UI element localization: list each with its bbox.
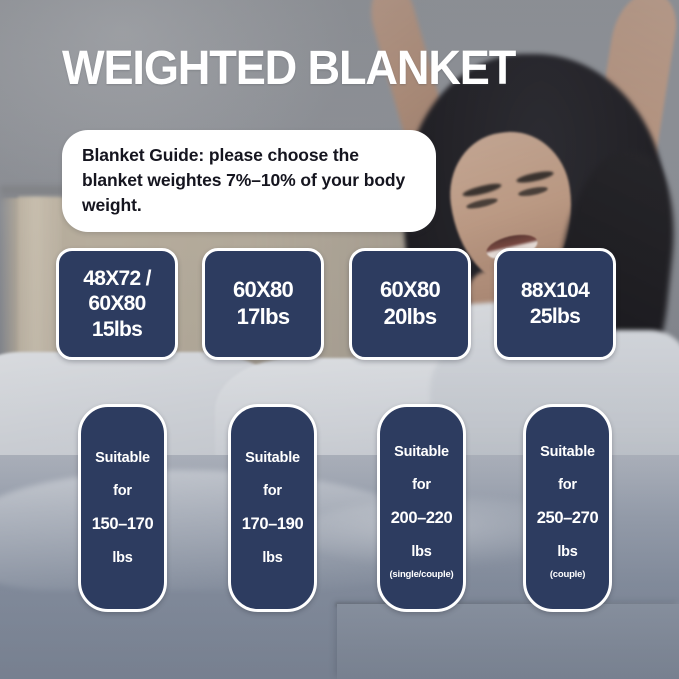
weighted-blanket-infographic: WEIGHTED BLANKET Blanket Guide: please c… bbox=[0, 0, 679, 679]
weight-unit: lbs bbox=[557, 545, 577, 560]
size-card-line: 88X104 bbox=[521, 278, 589, 304]
weight-unit: lbs bbox=[112, 551, 132, 566]
page-title: WEIGHTED BLANKET bbox=[62, 45, 515, 93]
weight-range: 250–270 bbox=[537, 510, 598, 527]
suitability-label: for bbox=[113, 484, 132, 499]
overlay-content: WEIGHTED BLANKET Blanket Guide: please c… bbox=[0, 0, 679, 679]
weight-unit: lbs bbox=[411, 545, 431, 560]
size-card-line: 60X80 bbox=[88, 291, 145, 317]
size-card-line: 60X80 bbox=[233, 277, 293, 304]
size-card-line: 25lbs bbox=[530, 304, 580, 330]
size-card-line: 60X80 bbox=[380, 277, 440, 304]
size-card-line: 15lbs bbox=[92, 317, 142, 343]
size-card-line: 48X72 / bbox=[83, 266, 151, 292]
suitability-label: for bbox=[558, 478, 577, 493]
size-card-line: 20lbs bbox=[384, 304, 437, 331]
size-card[interactable]: 48X72 / 60X80 15lbs bbox=[56, 248, 178, 360]
suitability-card[interactable]: Suitable for 200–220 lbs (single/couple) bbox=[377, 404, 466, 612]
suitability-label: Suitable bbox=[394, 445, 449, 460]
blanket-guide-callout: Blanket Guide: please choose the blanket… bbox=[62, 130, 436, 232]
size-card-line: 17lbs bbox=[237, 304, 290, 331]
suitability-card[interactable]: Suitable for 250–270 lbs (couple) bbox=[523, 404, 612, 612]
suitability-label: for bbox=[263, 484, 282, 499]
weight-unit: lbs bbox=[262, 551, 282, 566]
size-card-row: 48X72 / 60X80 15lbs 60X80 17lbs 60X80 20… bbox=[0, 248, 679, 360]
suitability-label: Suitable bbox=[540, 445, 595, 460]
size-card[interactable]: 88X104 25lbs bbox=[494, 248, 616, 360]
suitability-label: for bbox=[412, 478, 431, 493]
weight-range: 170–190 bbox=[242, 516, 303, 533]
suitability-label: Suitable bbox=[245, 451, 300, 466]
weight-range: 200–220 bbox=[391, 510, 452, 527]
usage-note: (couple) bbox=[550, 570, 585, 580]
suitability-label: Suitable bbox=[95, 451, 150, 466]
weight-range: 150–170 bbox=[92, 516, 153, 533]
suitability-card-row: Suitable for 150–170 lbs Suitable for 17… bbox=[0, 404, 679, 612]
suitability-card[interactable]: Suitable for 170–190 lbs bbox=[228, 404, 317, 612]
suitability-card[interactable]: Suitable for 150–170 lbs bbox=[78, 404, 167, 612]
size-card[interactable]: 60X80 17lbs bbox=[202, 248, 324, 360]
usage-note: (single/couple) bbox=[389, 570, 453, 580]
size-card[interactable]: 60X80 20lbs bbox=[349, 248, 471, 360]
